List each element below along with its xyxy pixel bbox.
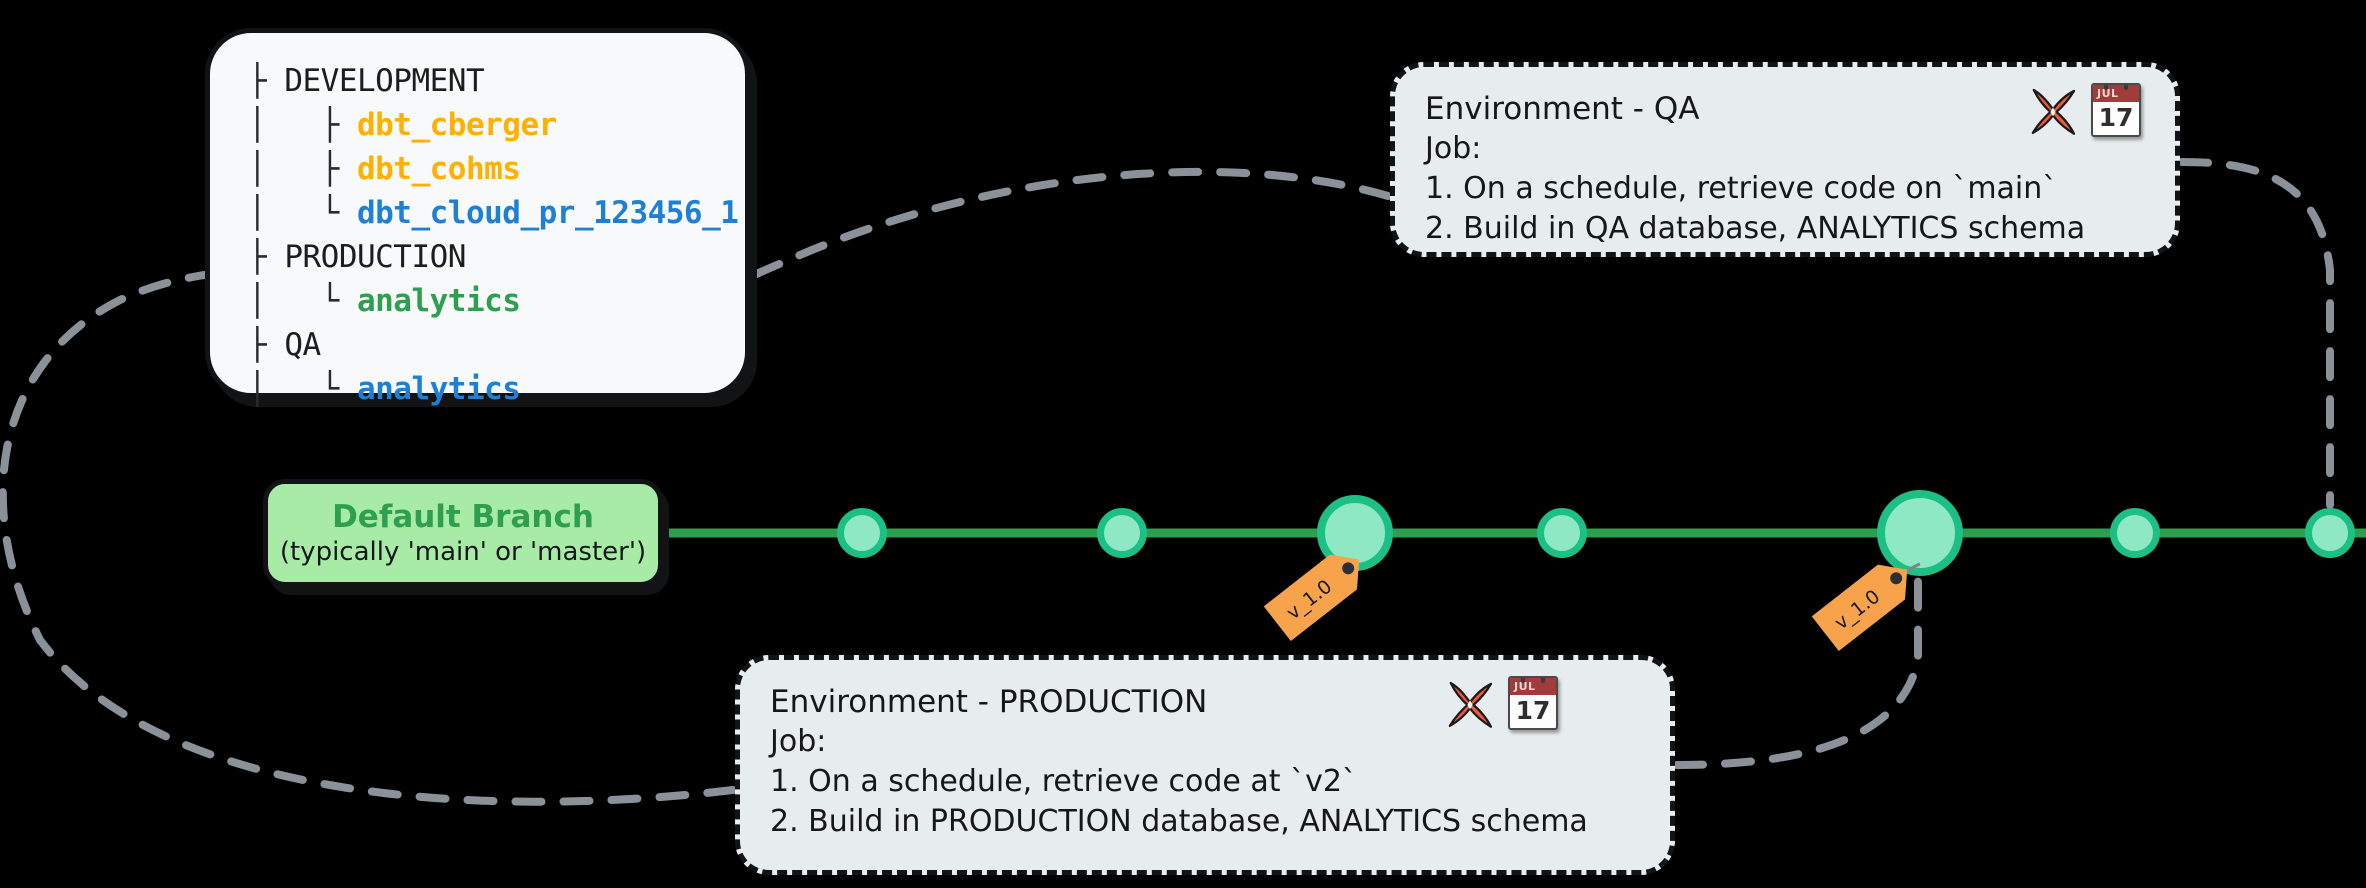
production-card-step-1: 1. On a schedule, retrieve code at `v2` (770, 762, 1640, 802)
environment-card-qa: JUL 17 Environment - QA Job: 1. On a sch… (1390, 62, 2180, 257)
qa-card-step-1: 1. On a schedule, retrieve code on `main… (1425, 169, 2145, 209)
commit-node[interactable] (837, 508, 887, 558)
tree-label-production-analytics[interactable]: analytics (357, 283, 520, 319)
environment-card-production: JUL 17 Environment - PRODUCTION Job: 1. … (735, 655, 1675, 875)
tree-prefix: │ └ (248, 371, 357, 407)
dbt-x-icon (1442, 676, 1498, 732)
tree-row: │ ├ dbt_cohms (248, 147, 745, 191)
tree-label-qa: QA (284, 327, 320, 363)
tree-prefix: ├ (248, 327, 284, 363)
tree-prefix: │ └ (248, 283, 357, 319)
calendar-ring (2104, 83, 2108, 90)
production-card-step-2: 2. Build in PRODUCTION database, ANALYTI… (770, 802, 1640, 842)
calendar-day: 17 (1510, 695, 1556, 726)
diagram-canvas: ├ DEVELOPMENT │ ├ dbt_cberger │ ├ dbt_co… (0, 0, 2366, 888)
tree-row: ├ PRODUCTION (248, 235, 745, 279)
branch-environment-tree-card: ├ DEVELOPMENT │ ├ dbt_cberger │ ├ dbt_co… (205, 28, 750, 398)
qa-card-step-2: 2. Build in QA database, ANALYTICS schem… (1425, 209, 2145, 249)
calendar-day: 17 (2093, 102, 2139, 133)
commit-node[interactable] (2305, 508, 2355, 558)
tree-label-dbt-cloud-pr[interactable]: dbt_cloud_pr_123456_1 (357, 195, 738, 231)
tree-prefix: │ ├ (248, 107, 357, 143)
tree-row: │ ├ dbt_cberger (248, 103, 745, 147)
tree-label-production: PRODUCTION (284, 239, 466, 275)
tree-prefix: ├ (248, 239, 284, 275)
tree-prefix: │ └ (248, 195, 357, 231)
tree-row: ├ QA (248, 323, 745, 367)
commit-node[interactable] (1537, 508, 1587, 558)
calendar-icon: JUL 17 (1508, 676, 1558, 730)
tree-label-dbt-cohms[interactable]: dbt_cohms (357, 151, 520, 187)
tree-prefix: │ ├ (248, 151, 357, 187)
default-branch-subtitle: (typically 'main' or 'master') (280, 537, 646, 567)
default-branch-title: Default Branch (332, 499, 594, 535)
tree-label-dbt-cberger[interactable]: dbt_cberger (357, 107, 557, 143)
tree-prefix: ├ (248, 63, 284, 99)
dbt-x-icon (2025, 83, 2081, 139)
calendar-ring (1541, 676, 1545, 683)
tree-row: │ └ dbt_cloud_pr_123456_1 (248, 191, 745, 235)
tree-row: │ └ analytics (248, 279, 745, 323)
production-card-badges: JUL 17 (1442, 676, 1558, 732)
commit-node[interactable] (1097, 508, 1147, 558)
calendar-month: JUL (1510, 678, 1556, 695)
tree-label-development: DEVELOPMENT (284, 63, 484, 99)
tree-row: ├ DEVELOPMENT (248, 59, 745, 103)
calendar-ring (1521, 676, 1525, 683)
calendar-ring (2124, 83, 2128, 90)
commit-node[interactable] (2110, 508, 2160, 558)
default-branch-pill: Default Branch (typically 'main' or 'mas… (263, 479, 663, 587)
tree-label-qa-analytics[interactable]: analytics (357, 371, 520, 407)
calendar-month: JUL (2093, 85, 2139, 102)
wire-qa-to-commit (2182, 162, 2330, 505)
tree-row: │ └ analytics (248, 367, 745, 411)
calendar-icon: JUL 17 (2091, 83, 2141, 137)
qa-card-badges: JUL 17 (2025, 83, 2141, 139)
